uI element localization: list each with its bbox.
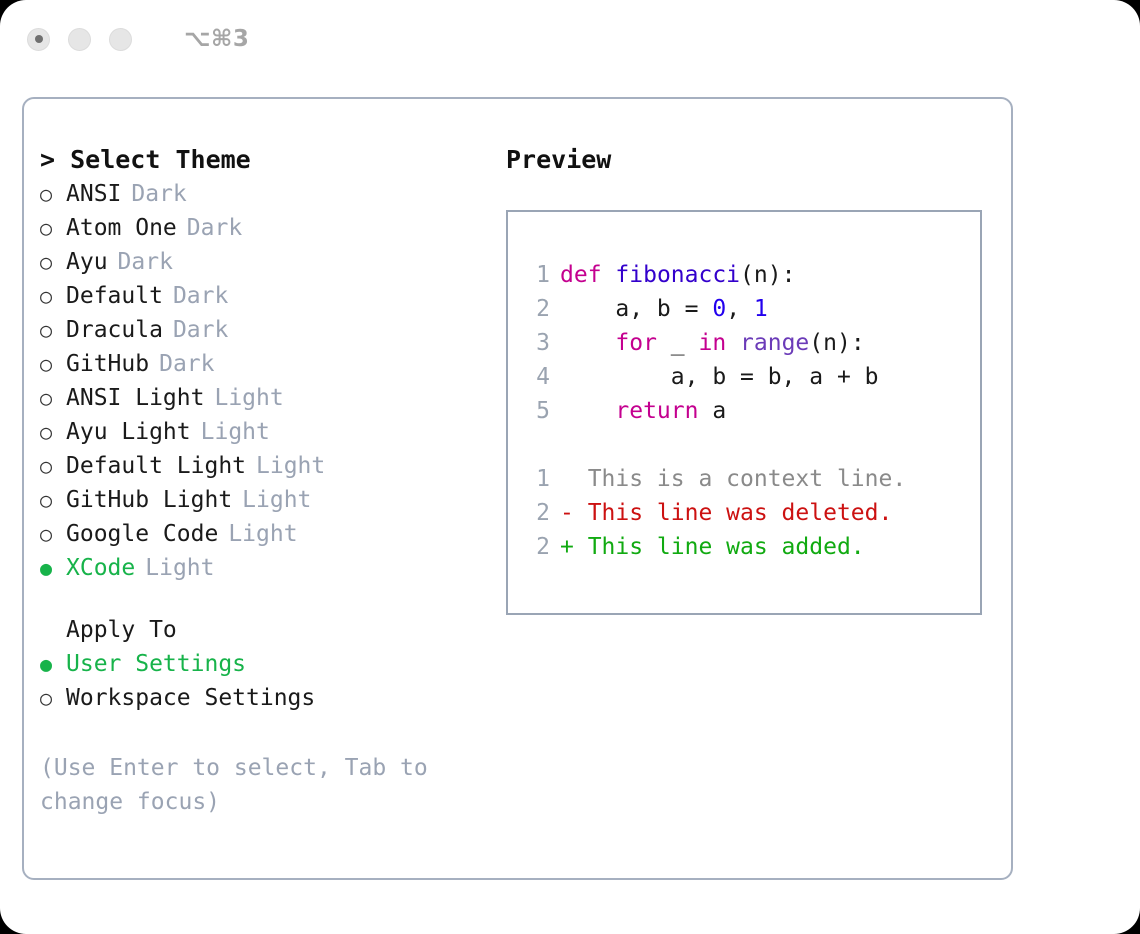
theme-option-variant-tag: Light [228, 517, 297, 551]
code-line-number: 1 [516, 258, 550, 292]
radio-unselected-icon[interactable]: ○ [40, 245, 66, 279]
theme-option-variant-tag: Light [256, 449, 325, 483]
theme-option-atom-one[interactable]: ○Atom OneDark [40, 211, 494, 245]
window-dot-third-icon[interactable] [109, 28, 132, 51]
code-line: 3 for _ in range(n): [516, 326, 980, 360]
theme-option-variant-tag: Dark [159, 347, 214, 381]
window-dot-active-icon[interactable] [27, 28, 50, 51]
radio-unselected-icon[interactable]: ○ [40, 681, 66, 715]
theme-option-ayu-light[interactable]: ○Ayu LightLight [40, 415, 494, 449]
code-line-text: a, b = b, a + b [560, 360, 879, 394]
code-token-kw: return [615, 398, 698, 424]
radio-unselected-icon[interactable]: ○ [40, 415, 66, 449]
apply-to-option-label: User Settings [66, 647, 246, 681]
apply-to-heading: Apply To [66, 613, 177, 647]
apply-to-heading-spacer: ○ [40, 613, 66, 647]
window-dot-active-inner [35, 35, 43, 43]
diff-line-number: 2 [516, 530, 550, 564]
code-token-pln: a [698, 398, 726, 424]
code-token-pln: , [726, 296, 754, 322]
code-token-call: range [740, 330, 809, 356]
radio-unselected-icon[interactable]: ○ [40, 279, 66, 313]
theme-option-variant-tag: Dark [118, 245, 173, 279]
select-theme-heading: > Select Theme [40, 143, 494, 177]
diff-preview: 1 This is a context line.2- This line wa… [516, 462, 980, 564]
code-diff-spacer [516, 428, 980, 462]
theme-list: ○ANSIDark○Atom OneDark○AyuDark○DefaultDa… [40, 177, 494, 585]
preview-box: 1def fibonacci(n):2 a, b = 0, 13 for _ i… [506, 210, 982, 615]
theme-option-variant-tag: Dark [187, 211, 242, 245]
theme-option-variant-tag: Dark [173, 313, 228, 347]
code-token-pln: (n): [740, 262, 795, 288]
window-controls [27, 28, 132, 51]
theme-option-variant-tag: Dark [173, 279, 228, 313]
theme-option-variant-tag: Light [145, 551, 214, 585]
theme-option-variant-tag: Light [201, 415, 270, 449]
diff-line-add: 2+ This line was added. [516, 530, 980, 564]
theme-picker-column: > Select Theme ○ANSIDark○Atom OneDark○Ay… [24, 99, 494, 878]
main-panel: > Select Theme ○ANSIDark○Atom OneDark○Ay… [22, 97, 1013, 880]
theme-option-xcode[interactable]: ●XCodeLight [40, 551, 494, 585]
code-token-num: 1 [754, 296, 768, 322]
window-titlebar: ⌥⌘3 [0, 0, 1140, 78]
theme-option-ansi-light[interactable]: ○ANSI LightLight [40, 381, 494, 415]
theme-option-label: ANSI [66, 177, 121, 211]
code-line-text: return a [560, 394, 726, 428]
theme-option-label: Ayu [66, 245, 108, 279]
theme-option-label: ANSI Light [66, 381, 204, 415]
theme-option-dracula[interactable]: ○DraculaDark [40, 313, 494, 347]
preview-heading: Preview [506, 143, 1011, 177]
preview-column: Preview 1def fibonacci(n):2 a, b = 0, 13… [494, 99, 1011, 878]
radio-unselected-icon[interactable]: ○ [40, 177, 66, 211]
diff-line-text: + This line was added. [560, 530, 865, 564]
diff-line-number: 1 [516, 462, 550, 496]
code-line-number: 5 [516, 394, 550, 428]
theme-option-variant-tag: Light [214, 381, 283, 415]
code-token-kw: for [615, 330, 657, 356]
theme-option-label: Dracula [66, 313, 163, 347]
diff-line-ctx: 1 This is a context line. [516, 462, 980, 496]
theme-option-github[interactable]: ○GitHubDark [40, 347, 494, 381]
code-token-kw: in [698, 330, 726, 356]
theme-option-label: Atom One [66, 211, 177, 245]
radio-unselected-icon[interactable]: ○ [40, 211, 66, 245]
code-line: 4 a, b = b, a + b [516, 360, 980, 394]
theme-option-ayu[interactable]: ○AyuDark [40, 245, 494, 279]
theme-option-label: Default Light [66, 449, 246, 483]
code-token-pln [560, 330, 615, 356]
code-token-pln: a, b = b, a + b [560, 364, 879, 390]
code-token-pln [726, 330, 740, 356]
theme-option-label: Ayu Light [66, 415, 191, 449]
code-token-num: 0 [712, 296, 726, 322]
code-line: 2 a, b = 0, 1 [516, 292, 980, 326]
code-token-kw: def [560, 262, 602, 288]
radio-unselected-icon[interactable]: ○ [40, 517, 66, 551]
theme-option-label: Default [66, 279, 163, 313]
diff-line-number: 2 [516, 496, 550, 530]
theme-option-label: XCode [66, 551, 135, 585]
radio-unselected-icon[interactable]: ○ [40, 313, 66, 347]
code-line-text: for _ in range(n): [560, 326, 865, 360]
code-token-pln: a, b = [560, 296, 712, 322]
code-token-fn: fibonacci [615, 262, 740, 288]
keyboard-shortcut-label: ⌥⌘3 [184, 26, 249, 52]
radio-unselected-icon[interactable]: ○ [40, 347, 66, 381]
apply-to-heading-row: ○ Apply To [40, 613, 494, 647]
code-line-number: 4 [516, 360, 550, 394]
code-line-number: 3 [516, 326, 550, 360]
code-line-text: a, b = 0, 1 [560, 292, 768, 326]
apply-to-option-label: Workspace Settings [66, 681, 315, 715]
theme-option-label: Google Code [66, 517, 218, 551]
diff-line-text: - This line was deleted. [560, 496, 892, 530]
code-preview: 1def fibonacci(n):2 a, b = 0, 13 for _ i… [516, 258, 980, 428]
radio-selected-icon[interactable]: ● [40, 647, 66, 681]
code-token-pln: (n): [809, 330, 864, 356]
radio-unselected-icon[interactable]: ○ [40, 381, 66, 415]
code-token-pln: _ [657, 330, 699, 356]
radio-unselected-icon[interactable]: ○ [40, 483, 66, 517]
apply-to-list: ●User Settings○Workspace Settings [40, 647, 494, 715]
code-token-pln [560, 398, 615, 424]
diff-line-text: This is a context line. [560, 462, 906, 496]
theme-option-variant-tag: Dark [131, 177, 186, 211]
code-token-pln [602, 262, 616, 288]
theme-option-label: GitHub Light [66, 483, 232, 517]
code-line: 5 return a [516, 394, 980, 428]
code-line-number: 2 [516, 292, 550, 326]
code-line: 1def fibonacci(n): [516, 258, 980, 292]
theme-option-default-light[interactable]: ○Default LightLight [40, 449, 494, 483]
theme-option-github-light[interactable]: ○GitHub LightLight [40, 483, 494, 517]
terminal-window: ⌥⌘3 > Select Theme ○ANSIDark○Atom OneDar… [0, 0, 1140, 934]
apply-to-option-workspace-settings[interactable]: ○Workspace Settings [40, 681, 494, 715]
theme-option-label: GitHub [66, 347, 149, 381]
theme-option-ansi[interactable]: ○ANSIDark [40, 177, 494, 211]
theme-option-variant-tag: Light [242, 483, 311, 517]
radio-unselected-icon[interactable]: ○ [40, 449, 66, 483]
diff-line-del: 2- This line was deleted. [516, 496, 980, 530]
code-line-text: def fibonacci(n): [560, 258, 795, 292]
theme-option-default[interactable]: ○DefaultDark [40, 279, 494, 313]
apply-to-option-user-settings[interactable]: ●User Settings [40, 647, 494, 681]
theme-option-google-code[interactable]: ○Google CodeLight [40, 517, 494, 551]
radio-selected-icon[interactable]: ● [40, 551, 66, 585]
keyboard-hint-text: (Use Enter to select, Tab to change focu… [40, 751, 440, 819]
window-dot-second-icon[interactable] [68, 28, 91, 51]
